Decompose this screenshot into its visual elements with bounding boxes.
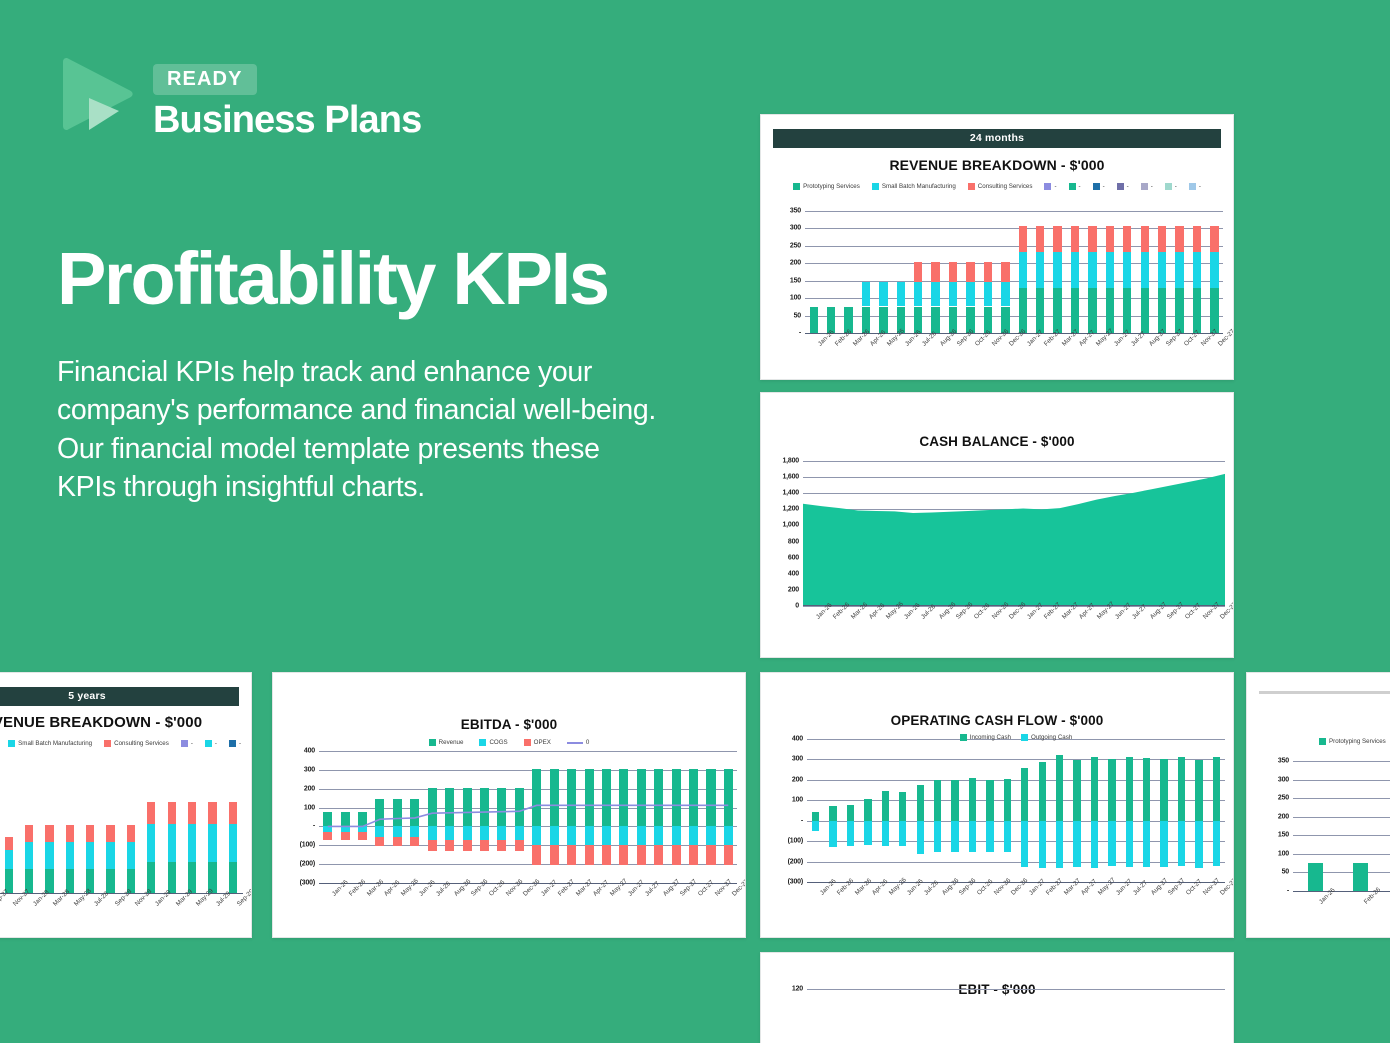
- brand-lockup: READY Business Plans: [57, 50, 421, 141]
- bar-segment: [1106, 252, 1114, 288]
- card-ebitda[interactable]: EBITDA - $'000 RevenueCOGSOPEX0 (300)(20…: [272, 672, 746, 938]
- xaxis-tick-col: May-26: [877, 884, 894, 918]
- xaxis-tick-col: Jun-26: [892, 335, 909, 369]
- bar-segment: [1108, 759, 1115, 820]
- xaxis-tick-col: Feb-26: [1338, 893, 1383, 923]
- bar-segment: [812, 812, 819, 821]
- yaxis-tick-label: 300: [792, 756, 803, 763]
- legend-item[interactable]: -: [1117, 183, 1129, 190]
- bar-segment: [882, 791, 889, 821]
- legend-swatch: [229, 740, 236, 747]
- bar-column[interactable]: [805, 211, 822, 333]
- bar-column[interactable]: [981, 739, 998, 882]
- bar-segment: [951, 821, 958, 853]
- xaxis-tick-col: Jan-26: [1293, 893, 1338, 923]
- bar-segment: [1141, 226, 1149, 252]
- bar-column[interactable]: [859, 739, 876, 882]
- bar-segment: [1036, 226, 1044, 252]
- bar-segment: [1193, 252, 1201, 288]
- yaxis-tick-label: (100): [300, 842, 315, 849]
- xaxis-tick-col: Oct-26: [476, 885, 493, 919]
- bar-column[interactable]: [842, 739, 859, 882]
- legend-item[interactable]: -: [205, 740, 217, 747]
- bar-column[interactable]: [202, 765, 222, 893]
- yaxis-tick-label: 200: [790, 260, 801, 267]
- bar-segment: [1001, 282, 1009, 306]
- legend-label: COGS: [489, 739, 507, 746]
- card-revenue-breakdown-5y[interactable]: 5 years REVENUE BREAKDOWN - $'000 Small …: [0, 672, 252, 938]
- yaxis-tick-label: 200: [792, 776, 803, 783]
- bar-column[interactable]: [1171, 211, 1188, 333]
- bar-column[interactable]: [100, 765, 120, 893]
- yaxis-tick-label: 200: [1278, 813, 1289, 820]
- bar-segment: [1123, 288, 1131, 333]
- bar-segment: [1126, 821, 1133, 867]
- xaxis-tick-col: May-27: [1086, 884, 1103, 918]
- xaxis-tick-col: Oct-27: [1172, 608, 1190, 642]
- xaxis-tick-col: Sep-27: [1155, 608, 1173, 642]
- legend-item[interactable]: -: [1165, 183, 1177, 190]
- yaxis-tick-label: 120: [792, 986, 803, 993]
- xaxis-tick-col: May-28: [60, 895, 80, 927]
- yaxis-tick-label: 300: [304, 766, 315, 773]
- bar-column[interactable]: [1068, 739, 1085, 882]
- bar-segment: [969, 821, 976, 853]
- bar-column[interactable]: [999, 739, 1016, 882]
- xaxis-tick-col: Oct-26: [964, 884, 981, 918]
- bar-column[interactable]: [875, 211, 892, 333]
- yaxis-tick-label: 1,200: [782, 506, 799, 513]
- bar-column[interactable]: [162, 765, 182, 893]
- legend-item[interactable]: Outgoing Cash: [1021, 734, 1072, 741]
- legend-item[interactable]: 0: [567, 739, 589, 746]
- xaxis-tick-col: Nov-27: [1190, 884, 1207, 918]
- bar-segment: [1123, 252, 1131, 288]
- bar-segment: [106, 842, 114, 869]
- bar-column[interactable]: [60, 765, 80, 893]
- area-series: [803, 461, 1225, 606]
- bar-segment: [147, 802, 155, 824]
- legend-item[interactable]: Consulting Services: [968, 183, 1033, 190]
- bar-segment: [966, 282, 974, 306]
- xaxis-tick-col: Jul-27: [1119, 335, 1136, 369]
- bar-column[interactable]: [997, 211, 1014, 333]
- yaxis-tick-label: 150: [790, 277, 801, 284]
- legend-item[interactable]: Small Batch Manufacturing: [872, 183, 956, 190]
- bar-series: [807, 739, 1225, 882]
- bar-segment: [847, 821, 854, 847]
- bar-column[interactable]: [1084, 211, 1101, 333]
- legend-item[interactable]: COGS: [479, 739, 507, 746]
- xaxis-tick-col: Apr-27: [1068, 884, 1085, 918]
- xaxis-tick-col: Jun-27: [615, 885, 632, 919]
- bar-segment: [879, 282, 887, 306]
- yaxis-tick-label: -: [313, 823, 315, 830]
- bar-column[interactable]: [912, 739, 929, 882]
- xaxis-tick-col: Jul-27: [633, 885, 650, 919]
- bar-segment: [1143, 758, 1150, 820]
- xaxis-tick-col: Nov-27: [1190, 608, 1208, 642]
- legend-item[interactable]: -: [229, 740, 241, 747]
- bar-column[interactable]: [1051, 989, 1086, 1043]
- xaxis-tick-col: Nov-28: [121, 895, 141, 927]
- xaxis-tick-col: Dec-27: [720, 885, 737, 919]
- xaxis-tick-col: Aug-26: [929, 884, 946, 918]
- xaxis-tick-col: Feb-26: [824, 884, 841, 918]
- legend-item[interactable]: -: [1044, 183, 1056, 190]
- bar-column[interactable]: [807, 739, 824, 882]
- xaxis-tick-col: Jul-27: [1121, 884, 1138, 918]
- xaxis-tick-col: Aug-26: [927, 335, 944, 369]
- bar-column[interactable]: [1190, 989, 1225, 1043]
- legend-swatch: [429, 739, 436, 746]
- legend-swatch: [1319, 738, 1326, 745]
- bar-segment: [1088, 252, 1096, 288]
- yaxis-tick-label: -: [1287, 888, 1289, 895]
- yaxis-tick-label: 250: [790, 242, 801, 249]
- bar-segment: [1158, 226, 1166, 252]
- legend-swatch: [479, 739, 486, 746]
- legend-swatch: [1044, 183, 1051, 190]
- bar-segment: [168, 802, 176, 824]
- legend-swatch: [960, 734, 967, 741]
- bar-column[interactable]: [1383, 761, 1390, 891]
- bar-column[interactable]: [807, 989, 842, 1043]
- bar-column[interactable]: [1103, 739, 1120, 882]
- bar-column[interactable]: [1014, 211, 1031, 333]
- bar-column[interactable]: [927, 211, 944, 333]
- xaxis-tick-col: Oct-27: [685, 885, 702, 919]
- xaxis-tick-col: Dec-27: [1207, 608, 1225, 642]
- bar-segment: [25, 825, 33, 842]
- bar-segment: [1053, 252, 1061, 288]
- bar-segment: [127, 842, 135, 869]
- xaxis-tick-col: May-27: [1084, 335, 1101, 369]
- yaxis-tick-label: 100: [304, 804, 315, 811]
- yaxis-tick-label: 400: [304, 748, 315, 755]
- xaxis-tick-col: Apr-27: [580, 885, 597, 919]
- legend-item[interactable]: Prototyping Services: [1319, 738, 1386, 745]
- legend-label: -: [1079, 183, 1081, 190]
- legend-item[interactable]: Revenue: [429, 739, 464, 746]
- legend-label: Consulting Services: [114, 740, 169, 747]
- bar-series: [0, 765, 243, 893]
- bar-segment: [1053, 226, 1061, 252]
- bar-segment: [914, 282, 922, 306]
- bar-segment: [1071, 252, 1079, 288]
- legend-label: -: [239, 740, 241, 747]
- bar-column[interactable]: [1121, 739, 1138, 882]
- xaxis-tick-col: Aug-27: [650, 885, 667, 919]
- xaxis-tick-col: Mar-27: [1051, 884, 1068, 918]
- xaxis-tick-col: Apr-27: [1066, 335, 1083, 369]
- xaxis-revenue-24m: Jan-26Feb-26Mar-26Apr-26May-26Jun-26Jul-…: [805, 335, 1223, 369]
- bar-column[interactable]: [223, 765, 243, 893]
- legend-revenue-24m: Prototyping ServicesSmall Batch Manufact…: [771, 183, 1223, 190]
- bar-segment: [1004, 821, 1011, 853]
- xaxis-tick-col: Mar-28: [39, 895, 59, 927]
- bar-column[interactable]: [0, 765, 19, 893]
- xaxis-tick-col: Jun-27: [1101, 335, 1118, 369]
- xaxis-ebitda: Jan-26Feb-26Mar-26Apr-26May-26Jun-26Jul-…: [319, 885, 737, 919]
- bar-column[interactable]: [822, 211, 839, 333]
- yaxis-tick-label: 1,000: [782, 522, 799, 529]
- legend-swatch: [1093, 183, 1100, 190]
- ready-badge: READY: [153, 64, 257, 95]
- xaxis-tick-col: Jun-27: [1103, 884, 1120, 918]
- bar-segment: [1178, 757, 1185, 820]
- bar-column[interactable]: [1119, 211, 1136, 333]
- yaxis-tick-label: 300: [1278, 776, 1289, 783]
- bar-segment: [5, 837, 13, 851]
- bar-column[interactable]: [911, 989, 946, 1043]
- bar-column[interactable]: [1208, 739, 1225, 882]
- bar-column[interactable]: [1066, 211, 1083, 333]
- yaxis-tick-label: 350: [790, 208, 801, 215]
- chart-title-revenue-24m: REVENUE BREAKDOWN - $'000: [771, 157, 1223, 173]
- bar-column[interactable]: [1031, 211, 1048, 333]
- bar-column[interactable]: [964, 739, 981, 882]
- bar-segment: [1019, 226, 1027, 252]
- card-revenue-breakdown-right-partial[interactable]: Prototyping Services -501001502002503003…: [1246, 672, 1390, 938]
- card-band-5-years: 5 years: [0, 687, 239, 706]
- legend-item[interactable]: -: [1069, 183, 1081, 190]
- bar-column[interactable]: [1155, 739, 1172, 882]
- card-ebit[interactable]: EBIT - $'000 80100120: [760, 952, 1234, 1043]
- bar-segment: [66, 825, 74, 842]
- xaxis-tick-col: Aug-27: [1136, 335, 1153, 369]
- xaxis-tick-col: Sep-27: [667, 885, 684, 919]
- yaxis-tick-label: 350: [1278, 758, 1289, 765]
- xaxis-tick-col: May-26: [875, 335, 892, 369]
- yaxis-tick-label: 0: [795, 603, 799, 610]
- bar-column[interactable]: [80, 765, 100, 893]
- bar-column[interactable]: [842, 989, 877, 1043]
- bar-segment: [45, 825, 53, 842]
- legend-label: 0: [586, 739, 589, 746]
- bar-segment: [1056, 821, 1063, 868]
- bar-column[interactable]: [981, 989, 1016, 1043]
- xaxis-tick-col: Jul-26: [908, 608, 926, 642]
- bar-column[interactable]: [19, 765, 39, 893]
- bar-column[interactable]: [894, 739, 911, 882]
- bar-segment: [208, 802, 216, 824]
- xaxis-cash-balance: Jan-26Feb-26Mar-26Apr-26May-26Jun-26Jul-…: [803, 608, 1225, 642]
- bar-segment: [864, 821, 871, 846]
- legend-item[interactable]: Incoming Cash: [960, 734, 1011, 741]
- bar-column[interactable]: [1016, 989, 1051, 1043]
- bar-segment: [812, 821, 819, 832]
- bar-segment: [127, 825, 135, 842]
- xaxis-tick-col: Apr-26: [857, 335, 874, 369]
- xaxis-tick-col: Jan-28: [19, 895, 39, 927]
- yaxis-tick-label: (200): [788, 858, 803, 865]
- legend-item[interactable]: -: [1141, 183, 1153, 190]
- xaxis-tick-col: Mar-27: [1049, 335, 1066, 369]
- bar-column[interactable]: [1086, 989, 1121, 1043]
- bar-segment: [86, 825, 94, 842]
- bar-column[interactable]: [1338, 761, 1383, 891]
- bar-column[interactable]: [929, 739, 946, 882]
- bar-series: [1293, 761, 1390, 891]
- xaxis-tick-col: Apr-26: [371, 885, 388, 919]
- xaxis-tick-col: Jan-27: [528, 885, 545, 919]
- bar-column[interactable]: [840, 211, 857, 333]
- legend-swatch: [524, 739, 531, 746]
- bar-column[interactable]: [910, 211, 927, 333]
- legend-label: Outgoing Cash: [1031, 734, 1072, 741]
- bar-column[interactable]: [877, 739, 894, 882]
- bar-column[interactable]: [39, 765, 59, 893]
- legend-item[interactable]: -: [1093, 183, 1105, 190]
- legend-label: -: [1151, 183, 1153, 190]
- bar-column[interactable]: [1049, 211, 1066, 333]
- bar-column[interactable]: [1206, 211, 1223, 333]
- xaxis-tick-col: Jan-29: [141, 895, 161, 927]
- card-revenue-breakdown-24m[interactable]: 24 months REVENUE BREAKDOWN - $'000 Prot…: [760, 114, 1234, 380]
- xaxis-tick-col: Sep-28: [100, 895, 120, 927]
- bar-column[interactable]: [946, 739, 963, 882]
- bar-segment: [1019, 288, 1027, 333]
- yaxis-tick-label: 50: [1282, 869, 1289, 876]
- xaxis-tick-col: Feb-27: [1031, 335, 1048, 369]
- xaxis-tick-col: Jan-26: [807, 884, 824, 918]
- legend-item[interactable]: -: [1189, 183, 1201, 190]
- bar-column[interactable]: [1136, 211, 1153, 333]
- bar-column[interactable]: [121, 765, 141, 893]
- xaxis-tick-col: May-27: [1084, 608, 1102, 642]
- bar-segment: [986, 821, 993, 852]
- bar-segment: [949, 262, 957, 282]
- bar-column[interactable]: [182, 765, 202, 893]
- xaxis-tick-col: Jan-26: [805, 335, 822, 369]
- bar-segment: [951, 780, 958, 820]
- bar-segment: [1195, 821, 1202, 868]
- legend-swatch: [968, 183, 975, 190]
- bar-segment: [1126, 757, 1133, 820]
- bar-segment: [1213, 757, 1220, 820]
- legend-item[interactable]: Consulting Services: [104, 740, 169, 747]
- yaxis-tick-label: 800: [788, 538, 799, 545]
- bar-column[interactable]: [892, 211, 909, 333]
- xaxis-revenue-right: Jan-26Feb-26Mar-26Apr-26May-26: [1293, 893, 1390, 923]
- xaxis-tick-col: Oct-27: [1173, 884, 1190, 918]
- yaxis-tick-label: (300): [788, 879, 803, 886]
- bar-segment: [168, 862, 176, 893]
- legend-item[interactable]: Prototyping Services: [793, 183, 860, 190]
- bar-segment: [1178, 821, 1185, 867]
- bar-column[interactable]: [1051, 739, 1068, 882]
- bar-column[interactable]: [962, 211, 979, 333]
- xaxis-tick-col: Apr-26: [859, 884, 876, 918]
- xaxis-tick-col: Feb-27: [545, 885, 562, 919]
- bar-segment: [917, 785, 924, 821]
- bar-segment: [86, 842, 94, 869]
- xaxis-tick-col: Sep-27: [1153, 335, 1170, 369]
- bar-segment: [934, 780, 941, 821]
- card-cash-balance[interactable]: CASH BALANCE - $'000 02004006008001,0001…: [760, 392, 1234, 658]
- card-operating-cash-flow[interactable]: OPERATING CASH FLOW - $'000 (300)(200)(1…: [760, 672, 1234, 938]
- bar-column[interactable]: [1120, 989, 1155, 1043]
- play-triangle-icon: [57, 58, 135, 130]
- bar-segment: [986, 780, 993, 821]
- legend-swatch: [8, 740, 15, 747]
- legend-label: Small Batch Manufacturing: [882, 183, 956, 190]
- bar-column[interactable]: [877, 989, 912, 1043]
- legend-label: -: [1054, 183, 1056, 190]
- bar-segment: [106, 869, 114, 893]
- xaxis-tick-col: Sep-26: [458, 885, 475, 919]
- bar-column[interactable]: [1016, 739, 1033, 882]
- bar-segment: [862, 282, 870, 306]
- xaxis-tick-col: Jun-27: [1102, 608, 1120, 642]
- bar-column[interactable]: [944, 211, 961, 333]
- plot-cash-balance: 02004006008001,0001,2001,4001,6001,800: [803, 461, 1225, 606]
- xaxis-tick-col: Jan-27: [1016, 884, 1033, 918]
- bar-column[interactable]: [946, 989, 981, 1043]
- bar-column[interactable]: [1293, 761, 1338, 891]
- xaxis-tick-col: Jul-28: [80, 895, 100, 927]
- chart-title-ocf: OPERATING CASH FLOW - $'000: [771, 713, 1223, 728]
- bar-segment: [1193, 288, 1201, 333]
- bar-column[interactable]: [141, 765, 161, 893]
- xaxis-tick-col: Jul-26: [910, 335, 927, 369]
- bar-column[interactable]: [1188, 211, 1205, 333]
- bar-segment: [1091, 821, 1098, 868]
- bar-column[interactable]: [857, 211, 874, 333]
- bar-segment: [934, 821, 941, 852]
- legend-label: -: [1103, 183, 1105, 190]
- bar-column[interactable]: [1101, 211, 1118, 333]
- xaxis-tick-col: Sep-26: [946, 884, 963, 918]
- bar-column[interactable]: [1173, 739, 1190, 882]
- legend-swatch: [1165, 183, 1172, 190]
- bar-column[interactable]: [979, 211, 996, 333]
- xaxis-tick-col: Nov-27: [0, 895, 19, 927]
- bar-column[interactable]: [1155, 989, 1190, 1043]
- xaxis-tick-col: Jun-26: [406, 885, 423, 919]
- bar-segment: [1141, 252, 1149, 288]
- bar-segment: [1213, 821, 1220, 867]
- xaxis-tick-col: Aug-27: [1138, 884, 1155, 918]
- yaxis-tick-label: 150: [1278, 832, 1289, 839]
- bar-segment: [1106, 226, 1114, 252]
- bar-segment: [1039, 821, 1046, 868]
- bar-column[interactable]: [1153, 211, 1170, 333]
- legend-item[interactable]: OPEX: [524, 739, 551, 746]
- bar-column[interactable]: [1086, 739, 1103, 882]
- bar-column[interactable]: [1190, 739, 1207, 882]
- bar-segment: [147, 824, 155, 862]
- bar-column[interactable]: [1033, 739, 1050, 882]
- legend-item[interactable]: -: [181, 740, 193, 747]
- xaxis-tick-col: May-26: [389, 885, 406, 919]
- bar-column[interactable]: [1138, 739, 1155, 882]
- plot-revenue-right: -50100150200250300350: [1293, 761, 1390, 891]
- page-title: Profitability KPIs: [57, 242, 608, 316]
- bar-segment: [188, 802, 196, 824]
- bar-segment: [1091, 757, 1098, 820]
- legend-item[interactable]: Small Batch Manufacturing: [8, 740, 92, 747]
- legend-swatch: [181, 740, 188, 747]
- legend-revenue-right: Prototyping Services: [1257, 738, 1390, 745]
- bar-column[interactable]: [824, 739, 841, 882]
- plot-revenue-5y: [0, 765, 243, 893]
- bar-segment: [1158, 252, 1166, 288]
- bar-segment: [914, 262, 922, 282]
- yaxis-tick-label: 100: [1278, 850, 1289, 857]
- xaxis-tick-col: Mar-26: [838, 608, 856, 642]
